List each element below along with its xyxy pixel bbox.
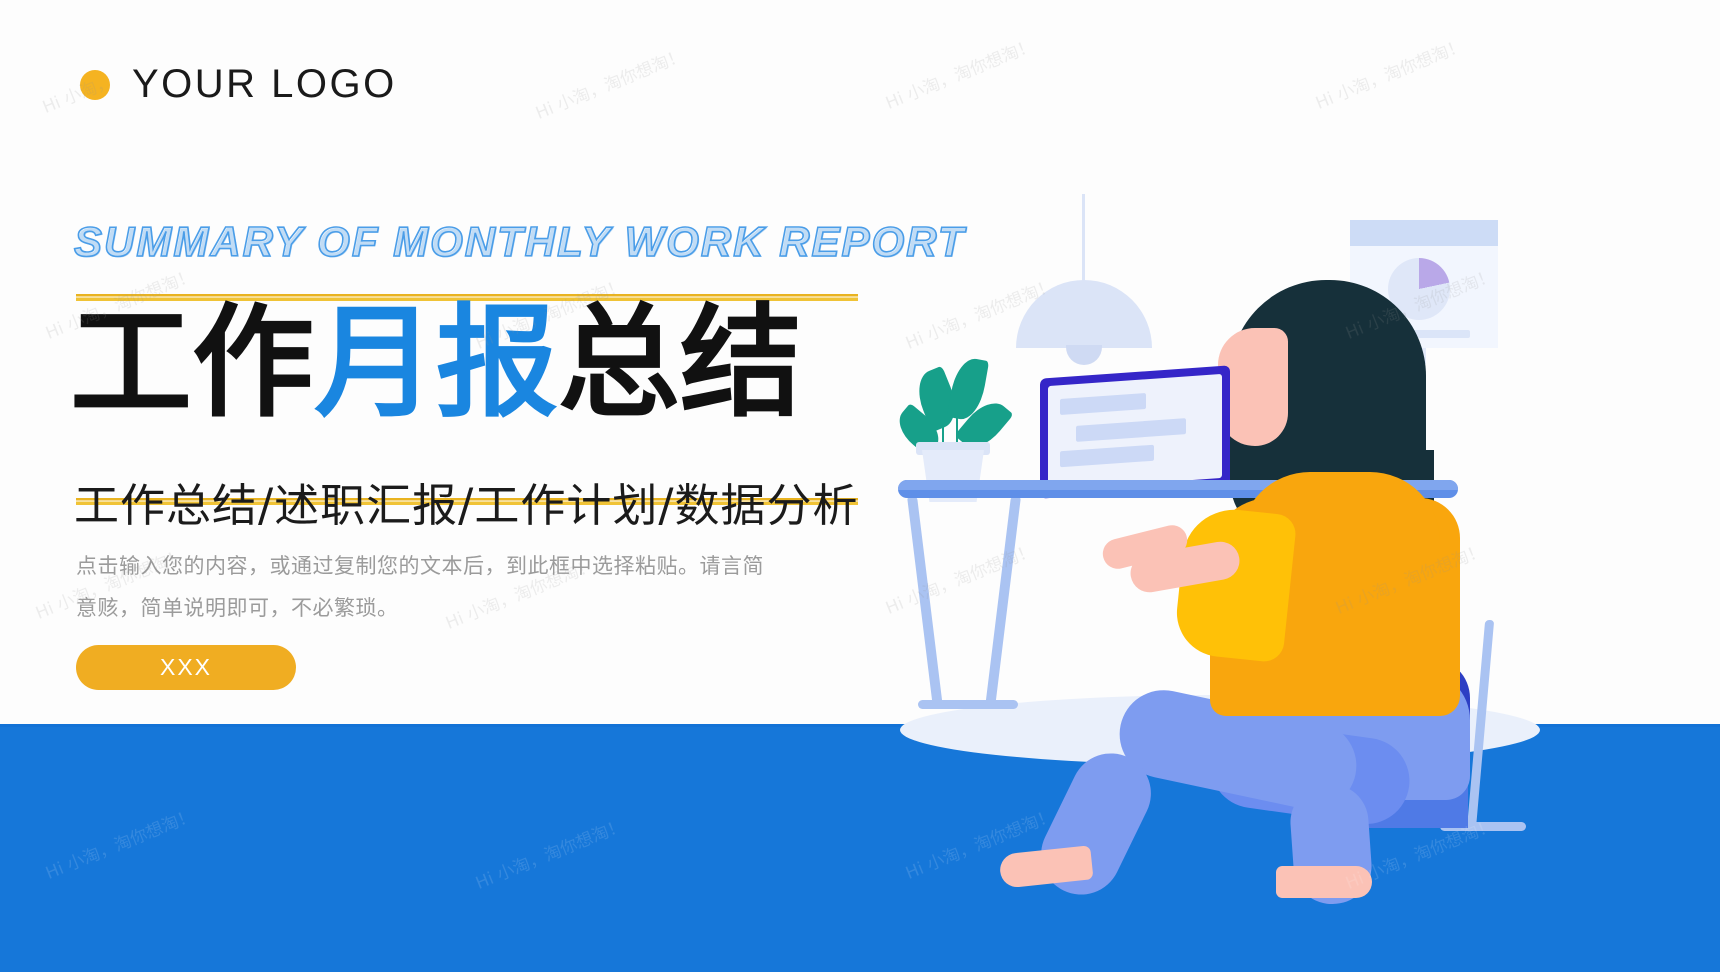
subtitle: 工作总结/述职汇报/工作计划/数据分析 (74, 478, 859, 534)
page-title: 工作月报总结 (70, 300, 802, 426)
desk-foot (918, 700, 1018, 709)
watermark: Hi 小淘，淘你想淘！ (1311, 31, 1468, 114)
watermark: Hi 小淘，淘你想淘！ (881, 31, 1038, 114)
logo-text: YOUR LOGO (132, 62, 397, 107)
desk-leg (985, 496, 1021, 708)
english-title: SUMMARY OF MONTHLY WORK REPORT (74, 218, 965, 266)
logo[interactable]: YOUR LOGO (80, 62, 397, 107)
hero-illustration (880, 150, 1580, 790)
logo-dot-icon (80, 70, 110, 100)
desk-leg (907, 496, 943, 708)
poster-header-bar (1350, 220, 1498, 246)
presentation-slide: YOUR LOGO SUMMARY OF MONTHLY WORK REPORT… (0, 0, 1720, 972)
person-foot-back (1276, 866, 1372, 898)
lamp-cord (1082, 194, 1085, 286)
title-part-2: 总结 (558, 292, 802, 434)
description-text: 点击输入您的内容，或通过复制您的文本后，到此框中选择粘贴。请言简意赅，简单说明即… (76, 545, 776, 629)
title-part-1: 工作 (70, 292, 314, 434)
lamp-bulb (1066, 345, 1102, 365)
title-highlight: 月报 (314, 292, 558, 434)
cta-button[interactable]: XXX (76, 645, 296, 690)
lamp-shade-icon (1016, 280, 1152, 348)
watermark: Hi 小淘，淘你想淘！ (531, 41, 688, 124)
